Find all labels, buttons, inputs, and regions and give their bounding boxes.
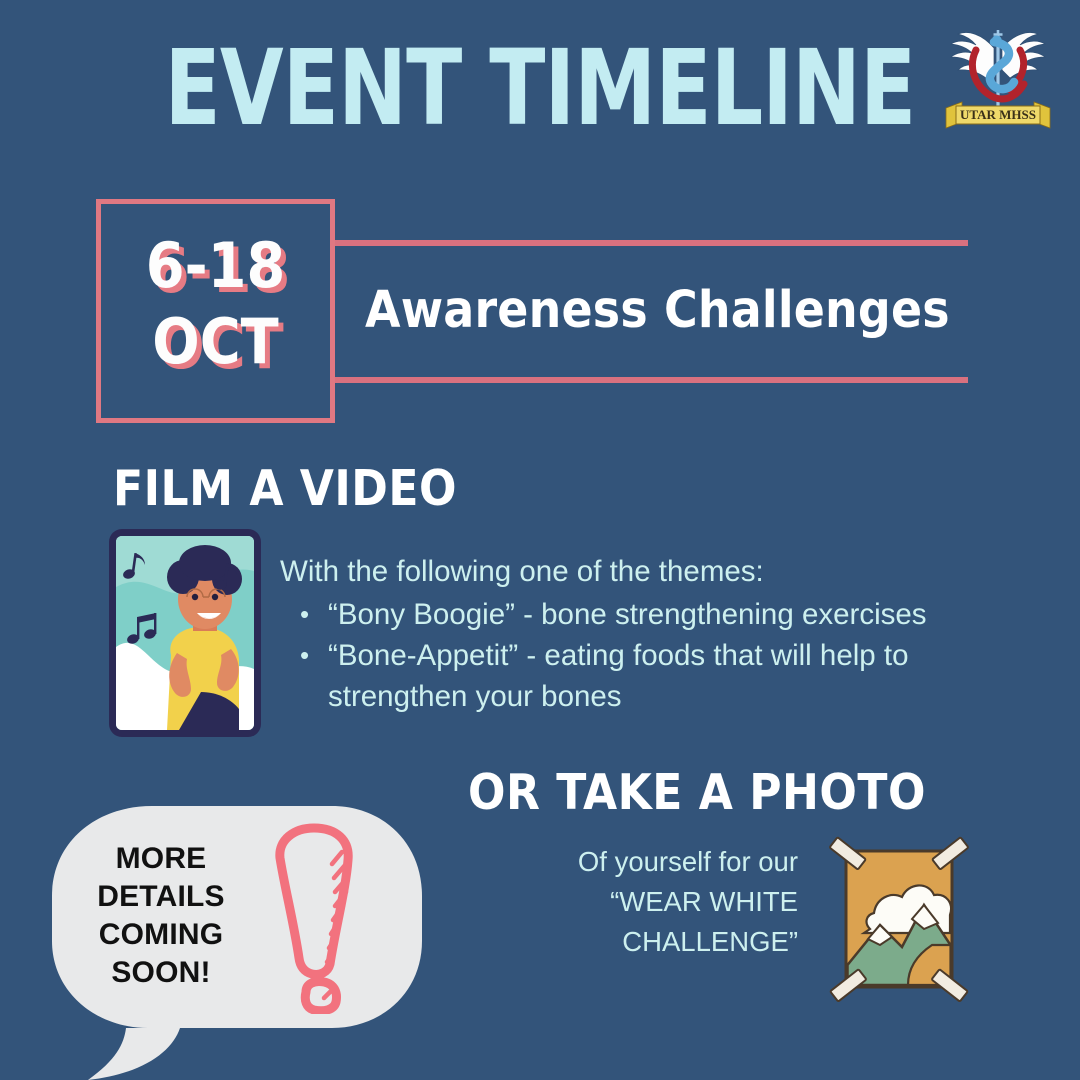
phone-dancing-woman-illustration — [105, 527, 265, 739]
bubble-line-3: COMING — [80, 916, 242, 954]
bubble-line-4: SOON! — [80, 954, 242, 992]
film-section-body: With the following one of the themes: “B… — [280, 551, 1010, 717]
page-title: EVENT TIMELINE — [65, 36, 1015, 140]
film-section-heading: FILM A VIDEO — [113, 464, 457, 513]
event-timeline-poster: EVENT TIMELINE UTAR MHSS — [0, 0, 1080, 1080]
date-line-2: OCT — [101, 311, 330, 373]
photo-body-line-2: “WEAR WHITE — [470, 882, 798, 922]
speech-bubble-text: MORE DETAILS COMING SOON! — [80, 840, 242, 992]
bubble-line-1: MORE — [80, 840, 242, 878]
photo-body-line-1: Of yourself for our — [470, 842, 798, 882]
film-theme-list: “Bony Boogie” - bone strengthening exerc… — [280, 594, 1010, 717]
date-box: 6-18 OCT — [96, 199, 335, 423]
section-rule-top — [335, 240, 968, 246]
photo-section-body: Of yourself for our “WEAR WHITE CHALLENG… — [470, 842, 798, 962]
logo-banner-text: UTAR MHSS — [960, 107, 1036, 122]
list-item: “Bone-Appetit” - eating foods that will … — [324, 635, 1010, 717]
utar-mhss-logo: UTAR MHSS — [932, 14, 1064, 146]
more-details-speech-bubble: MORE DETAILS COMING SOON! — [52, 806, 422, 1028]
taped-mountain-photo-illustration — [824, 833, 974, 1005]
section-title: Awareness Challenges — [365, 285, 950, 336]
film-intro-text: With the following one of the themes: — [280, 551, 1010, 592]
date-text: 6-18 OCT — [101, 235, 330, 373]
list-item: “Bony Boogie” - bone strengthening exerc… — [324, 594, 1010, 635]
section-rule-bottom — [335, 377, 968, 383]
bubble-line-2: DETAILS — [80, 878, 242, 916]
photo-body-line-3: CHALLENGE” — [470, 922, 798, 962]
exclamation-mark-icon — [250, 814, 390, 1014]
date-line-1: 6-18 — [101, 235, 330, 297]
photo-section-heading: OR TAKE A PHOTO — [468, 768, 926, 817]
